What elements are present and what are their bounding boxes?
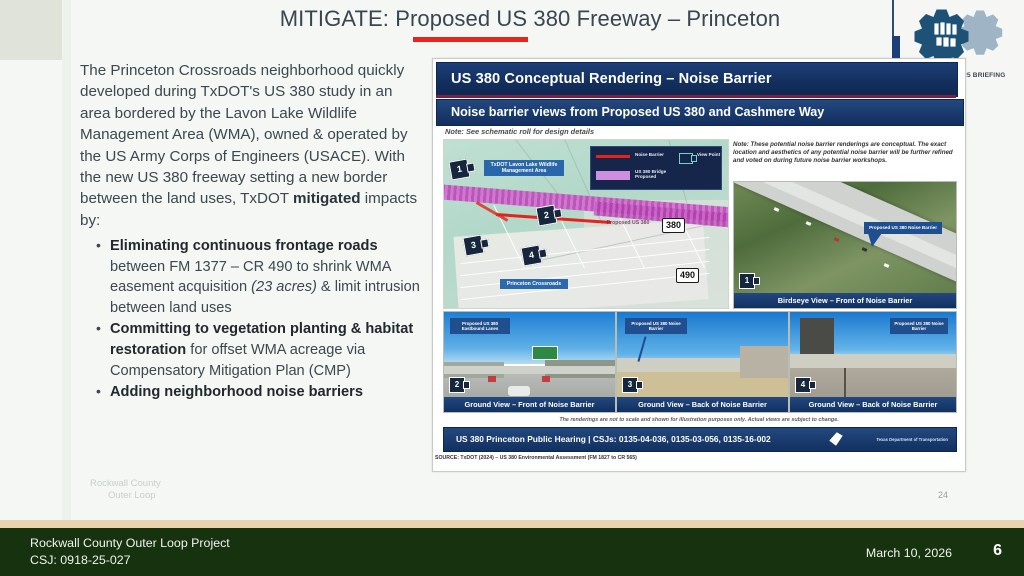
photo-3-callout: Proposed US 380 Noise Barrier	[625, 318, 687, 334]
photo-building	[740, 346, 788, 378]
photo-4-callout: Proposed US 380 Noise Barrier	[890, 318, 948, 334]
legend-swatch-noise-barrier	[596, 155, 630, 158]
map-marker-2[interactable]: 2	[535, 204, 557, 226]
map-label-wma: TxDOT Lavon Lake Wildlife Management Are…	[484, 160, 564, 176]
list-item: Committing to vegetation planting & habi…	[98, 319, 428, 381]
photo-noise-barrier	[617, 358, 747, 372]
paragraph-bold-word: mitigated	[293, 190, 361, 207]
legend-label-bridge: US 380 Bridge Proposed	[635, 169, 679, 180]
marker-number: 3	[470, 240, 477, 251]
view-caption-1: Birdseye View – Front of Noise Barrier	[734, 293, 956, 308]
marker-number: 4	[528, 250, 535, 261]
legend-label-view-point: View Point	[697, 152, 721, 157]
camera-icon	[553, 208, 562, 218]
footer-date: March 10, 2026	[866, 546, 952, 560]
title-rest: Proposed US 380 Freeway – Princeton	[389, 6, 780, 31]
legend-label-noise-barrier: Noise Barrier	[635, 152, 679, 157]
legend-swatch-bridge	[596, 171, 630, 180]
photo-noise-barrier	[444, 366, 615, 374]
route-shield-490: 490	[676, 268, 699, 283]
footer-csj: CSJ: 0918-25-027	[30, 552, 230, 569]
aerial-callout-label: Proposed US 380 Noise Barrier	[864, 222, 942, 234]
camera-icon	[480, 238, 489, 248]
page-footer: Rockwall County Outer Loop Project CSJ: …	[0, 528, 1024, 576]
footer-page-number: 6	[993, 542, 1002, 560]
left-edge-strip	[62, 0, 71, 520]
bullet-bold-lead: Eliminating continuous frontage roads	[110, 238, 378, 254]
photo-structure	[800, 318, 834, 356]
view-number-text: 1	[745, 276, 749, 285]
vehicle	[508, 386, 530, 396]
paragraph-text: The Princeton Crossroads neighborhood qu…	[80, 62, 408, 207]
camera-icon	[538, 248, 547, 258]
view-caption-3: Ground View – Back of Noise Barrier	[617, 397, 788, 412]
view-number-4: 4	[795, 377, 811, 393]
body-paragraph: The Princeton Crossroads neighborhood qu…	[80, 60, 425, 231]
map-legend: Noise Barrier US 380 Bridge Proposed Vie…	[590, 146, 722, 190]
footer-accent-bar	[0, 520, 1024, 528]
txdot-logo-text: Texas Department of Transportation	[798, 432, 948, 447]
marker-number: 2	[543, 210, 550, 221]
photo-2-callout: Proposed US 380 Eastbound Lanes	[450, 318, 510, 334]
legend-camera-icon	[679, 153, 693, 164]
map-marker-3[interactable]: 3	[462, 234, 484, 256]
view-4-photo[interactable]: Proposed US 380 Noise Barrier 4 Ground V…	[789, 311, 957, 413]
exhibit-subheader-bar: Noise barrier views from Proposed US 380…	[436, 99, 964, 126]
slide-watermark: Rockwall County Outer Loop	[90, 478, 161, 502]
exhibit-panel: US 380 Conceptual Rendering – Noise Barr…	[432, 58, 966, 472]
marker-number: 1	[456, 164, 463, 175]
list-item: Eliminating continuous frontage roads be…	[98, 236, 428, 318]
view-caption-4: Ground View – Back of Noise Barrier	[790, 397, 956, 412]
photo-noise-barrier	[790, 354, 956, 368]
corner-shade	[0, 0, 62, 60]
map-label-neighborhood: Princeton Crossroads	[500, 279, 568, 289]
exhibit-disclaimer: The renderings are not to scale and show…	[433, 417, 965, 423]
watermark-line-1: Rockwall County	[90, 478, 161, 489]
corridor-map[interactable]: TxDOT Lavon Lake Wildlife Management Are…	[443, 139, 729, 309]
vehicle	[488, 376, 496, 382]
page-title: MITIGATE: Proposed US 380 Freeway – Prin…	[180, 4, 880, 34]
exhibit-header-text: US 380 Conceptual Rendering – Noise Barr…	[437, 63, 957, 96]
exhibit-schematic-note: Note: See schematic roll for design deta…	[445, 127, 594, 136]
slide-title-area: MITIGATE: Proposed US 380 Freeway – Prin…	[180, 4, 880, 46]
vehicle	[542, 376, 550, 382]
map-marker-1[interactable]: 1	[448, 158, 470, 180]
exhibit-header-bar: US 380 Conceptual Rendering – Noise Barr…	[436, 62, 958, 97]
view-number-text: 3	[628, 380, 632, 389]
exhibit-maroon-rule	[436, 95, 956, 98]
bullet-italic: (23 acres)	[251, 279, 317, 295]
exhibit-source-line: SOURCE: TxDOT (2024) – US 380 Environmen…	[435, 455, 637, 461]
title-underline	[413, 37, 528, 42]
footer-project-info: Rockwall County Outer Loop Project CSJ: …	[30, 535, 230, 569]
camera-icon	[466, 162, 475, 172]
map-marker-4[interactable]: 4	[520, 244, 542, 266]
bullet-bold-lead: Adding neighborhood noise barriers	[110, 384, 363, 400]
map-label-corridor: Proposed US 380	[594, 218, 662, 228]
slide-canvas: MITIGATE: Proposed US 380 Freeway – Prin…	[0, 0, 1024, 520]
bullet-list: Eliminating continuous frontage roads be…	[80, 236, 428, 404]
highway-sign	[532, 346, 558, 360]
view-number-3: 3	[622, 377, 638, 393]
view-number-text: 2	[455, 380, 459, 389]
view-caption-2: Ground View – Front of Noise Barrier	[444, 397, 615, 412]
slide-number: 24	[938, 490, 948, 500]
exhibit-footer-bar: US 380 Princeton Public Hearing | CSJs: …	[443, 427, 957, 452]
view-number-1: 1	[739, 273, 755, 289]
exhibit-subheader-text: Noise barrier views from Proposed US 380…	[437, 100, 963, 125]
title-keyword: MITIGATE:	[280, 6, 389, 31]
view-number-2: 2	[449, 377, 465, 393]
watermark-line-2: Outer Loop	[108, 490, 161, 502]
view-1-aerial-photo[interactable]: Proposed US 380 Noise Barrier 1 Birdseye…	[733, 181, 957, 309]
footer-project-name: Rockwall County Outer Loop Project	[30, 535, 230, 552]
view-2-photo[interactable]: Proposed US 380 Eastbound Lanes 2 Ground…	[443, 311, 616, 413]
view-number-text: 4	[801, 380, 805, 389]
aerial-conceptual-note: Note: These potential noise barrier rend…	[733, 141, 955, 165]
view-3-photo[interactable]: Proposed US 380 Noise Barrier 3 Ground V…	[616, 311, 789, 413]
route-shield-380: 380	[662, 218, 685, 233]
list-item: Adding neighborhood noise barriers	[98, 382, 428, 403]
